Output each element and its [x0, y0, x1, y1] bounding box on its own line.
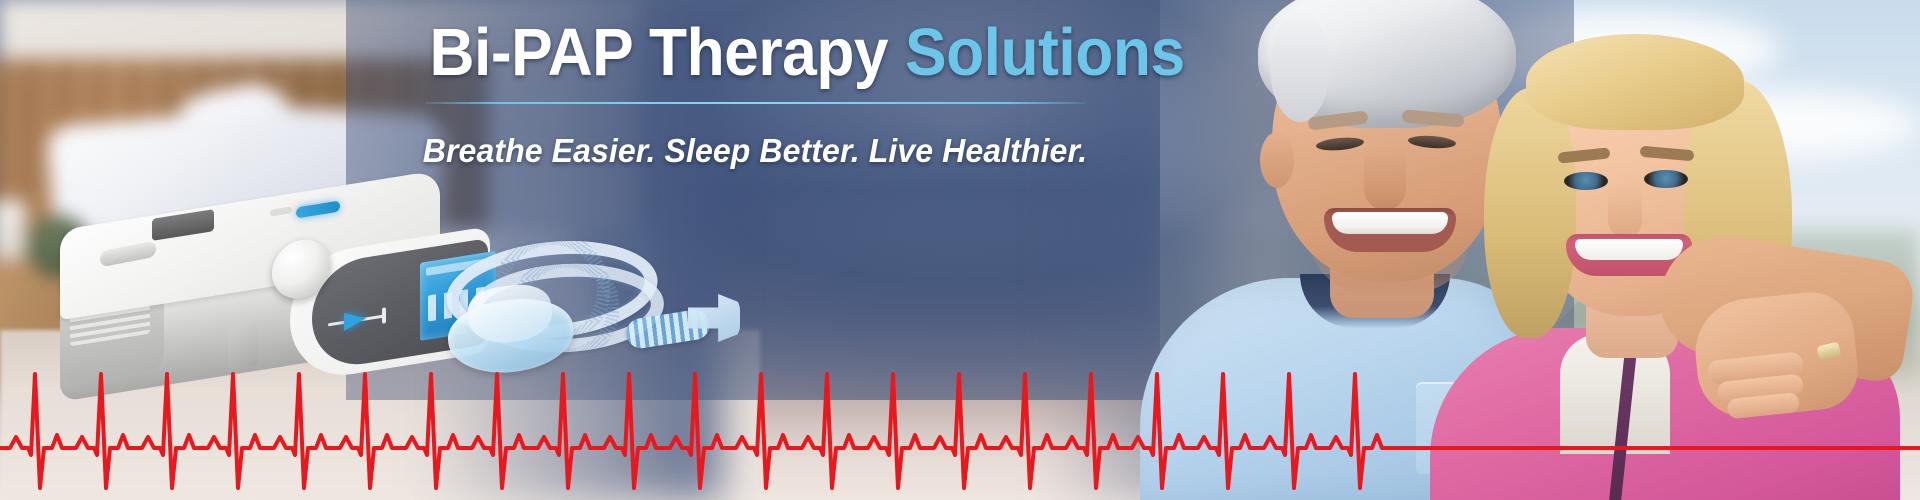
- man-smiling-mouth: [1324, 208, 1456, 252]
- machine-side-button: [228, 324, 258, 371]
- cpap-tubing-and-mask: [440, 238, 740, 368]
- man-nose: [1364, 148, 1406, 210]
- senior-couple-photo: [1140, 0, 1920, 500]
- airflow-arrow-icon: [328, 306, 386, 333]
- arrow-tail: [382, 307, 386, 324]
- page-title: Bi-PAP Therapy Solutions: [430, 18, 1081, 88]
- woman-nose: [1608, 184, 1642, 238]
- woman-hair-left: [1484, 88, 1576, 338]
- woman-eye-right: [1644, 170, 1688, 188]
- bipap-therapy-banner: Bi-PAP Therapy Solutions Breathe Easier.…: [0, 0, 1920, 500]
- headline-divider: [425, 102, 1085, 104]
- subheadline: Breathe Easier. Sleep Better. Live Healt…: [416, 132, 1095, 170]
- man-teeth: [1332, 212, 1448, 234]
- arrow-head: [344, 309, 366, 330]
- man-ear: [1260, 132, 1294, 188]
- table-lamp: [0, 200, 26, 260]
- bipap-machine: [60, 200, 490, 385]
- headline-accent: Solutions: [905, 15, 1185, 90]
- woman-eye-left: [1564, 172, 1608, 190]
- headline-primary: Bi-PAP Therapy: [430, 15, 889, 90]
- headline-text-block: Bi-PAP Therapy Solutions Breathe Easier.…: [405, 18, 1105, 178]
- woman-teeth: [1575, 239, 1683, 260]
- woman-hair-fringe: [1526, 34, 1744, 130]
